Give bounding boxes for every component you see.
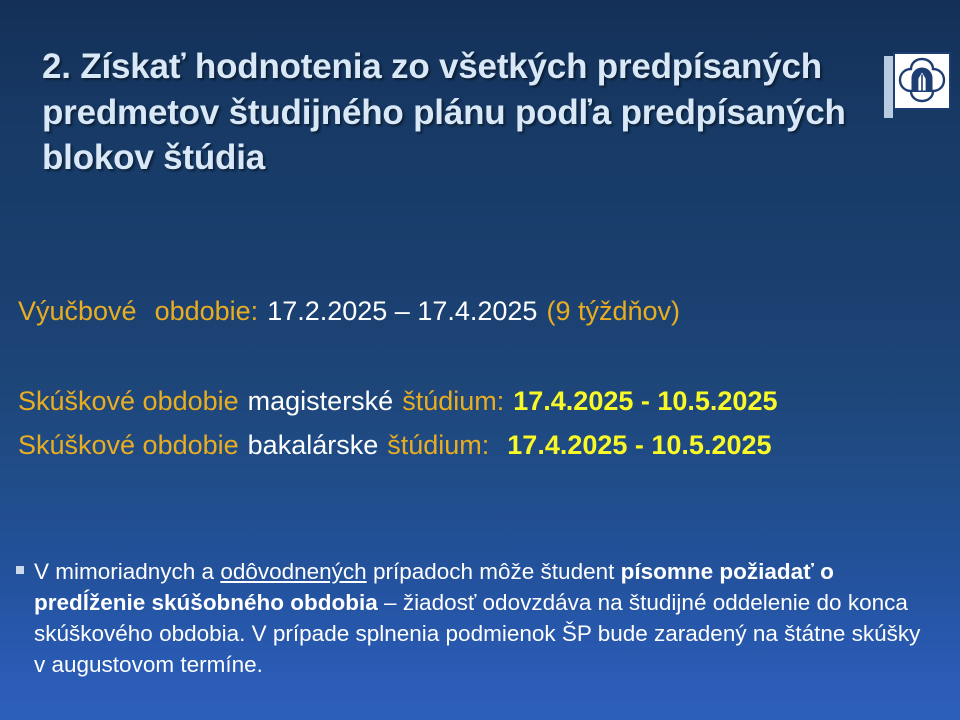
- bullet-part-underlined: odôvodnených: [220, 559, 366, 584]
- logo-side-strip: [884, 56, 893, 118]
- bachelors-level: bakalárske: [248, 430, 379, 460]
- bachelors-exam-label: Skúškové obdobie: [18, 430, 239, 460]
- teaching-period-dates: 17.2.2025 – 17.4.2025: [267, 296, 537, 326]
- slide-title: 2. Získať hodnotenia zo všetkých predpís…: [42, 44, 852, 181]
- masters-exam-dates: 17.4.2025 - 10.5.2025: [513, 386, 777, 416]
- bachelors-suffix: štúdium:: [387, 430, 489, 460]
- masters-level: magisterské: [248, 386, 394, 416]
- masters-suffix: štúdium:: [402, 386, 504, 416]
- university-logo: [884, 52, 952, 120]
- logo-box: [893, 52, 951, 110]
- teaching-period-label-2: obdobie:: [155, 296, 259, 326]
- bullet-part-3: prípadoch môže študent: [367, 559, 621, 584]
- teaching-period-note: (9 týždňov): [546, 296, 680, 326]
- bachelors-exam-dates: 17.4.2025 - 10.5.2025: [507, 430, 771, 460]
- slide-canvas: 2. Získať hodnotenia zo všetkých predpís…: [0, 0, 960, 720]
- square-bullet-icon: [16, 566, 24, 574]
- note-bullet-block: V mimoriadnych a odôvodnených prípadoch …: [16, 556, 934, 680]
- period-line-bachelors-exams: Skúškové obdobiebakalárskeštúdium:17.4.2…: [18, 432, 948, 459]
- bullet-list-item: V mimoriadnych a odôvodnených prípadoch …: [16, 556, 934, 680]
- bullet-paragraph-text: V mimoriadnych a odôvodnených prípadoch …: [34, 556, 934, 680]
- teaching-period-label: Výučbové: [18, 296, 137, 326]
- period-line-masters-exams: Skúškové obdobiemagisterskéštúdium:17.4.…: [18, 388, 948, 415]
- bullet-part-1: V mimoriadnych a: [34, 559, 220, 584]
- university-emblem-icon: [895, 54, 949, 108]
- masters-exam-label: Skúškové obdobie: [18, 386, 239, 416]
- period-line-teaching: Výučbovéobdobie:17.2.2025 – 17.4.2025(9 …: [18, 298, 948, 325]
